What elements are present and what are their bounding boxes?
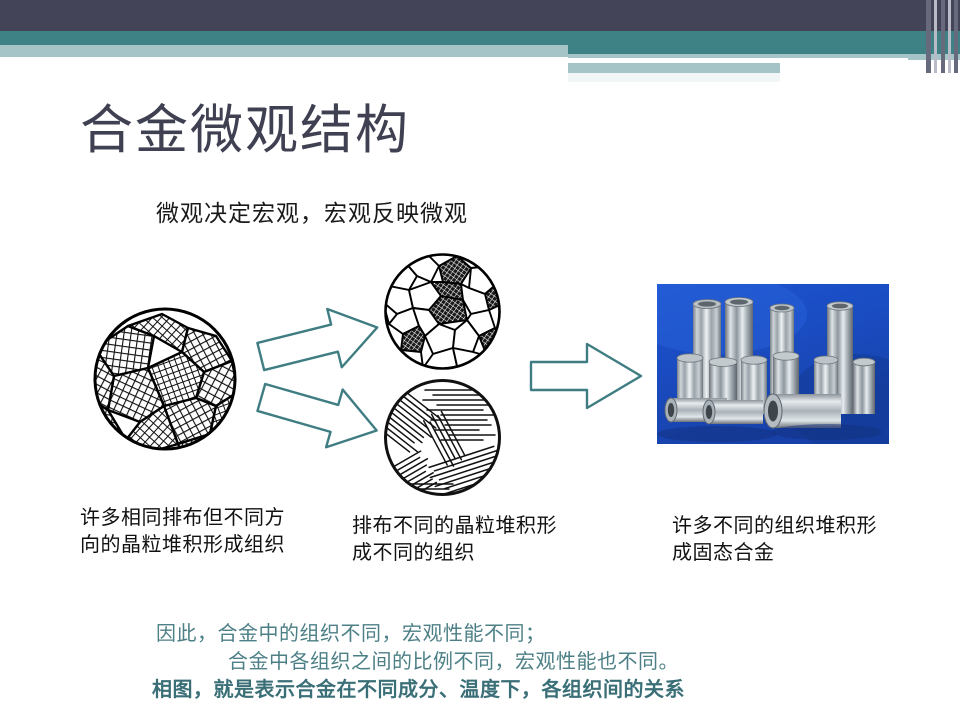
caption-middle: 排布不同的晶粒堆积形成不同的组织 (352, 513, 567, 566)
grain-lattice-circle (92, 306, 238, 452)
needle-grain-circle (383, 378, 502, 497)
arrow-upper-left (253, 306, 385, 383)
footer-line-3: 相图，就是表示合金在不同成分、温度下，各组织间的关系 (152, 673, 685, 702)
header-vertical-stripe-5 (954, 0, 958, 73)
header-vertical-stripe-2 (934, 0, 937, 73)
header-vertical-stripe-4 (948, 0, 951, 73)
header-vertical-stripe-1 (926, 0, 931, 73)
header-vertical-stripe-3 (941, 0, 945, 73)
footer-line-2: 合金中各组织之间的比例不同，宏观性能也不同。 (228, 645, 679, 674)
header-white-cut (780, 63, 960, 83)
metal-cylinders-photo (657, 284, 889, 444)
header-navy-bar (0, 0, 960, 31)
arrow-lower-left (253, 378, 385, 455)
caption-right: 许多不同的组织堆积形成固态合金 (672, 513, 887, 566)
header-teal-bar (0, 31, 960, 45)
header-pale-bar (568, 73, 780, 82)
slide: 合金微观结构 微观决定宏观，宏观反映微观 (0, 0, 960, 720)
slide-title: 合金微观结构 (80, 88, 410, 164)
caption-left: 许多相同排布但不同方向的晶粒堆积形成组织 (80, 505, 290, 558)
polygonal-grain-circle (383, 252, 502, 371)
header-teal-bar-right (568, 45, 960, 54)
slide-subtitle: 微观决定宏观，宏观反映微观 (156, 194, 468, 228)
arrow-right (527, 338, 647, 419)
header-decoration (0, 0, 960, 90)
footer-line-1: 因此，合金中的组织不同，宏观性能不同； (156, 617, 546, 646)
